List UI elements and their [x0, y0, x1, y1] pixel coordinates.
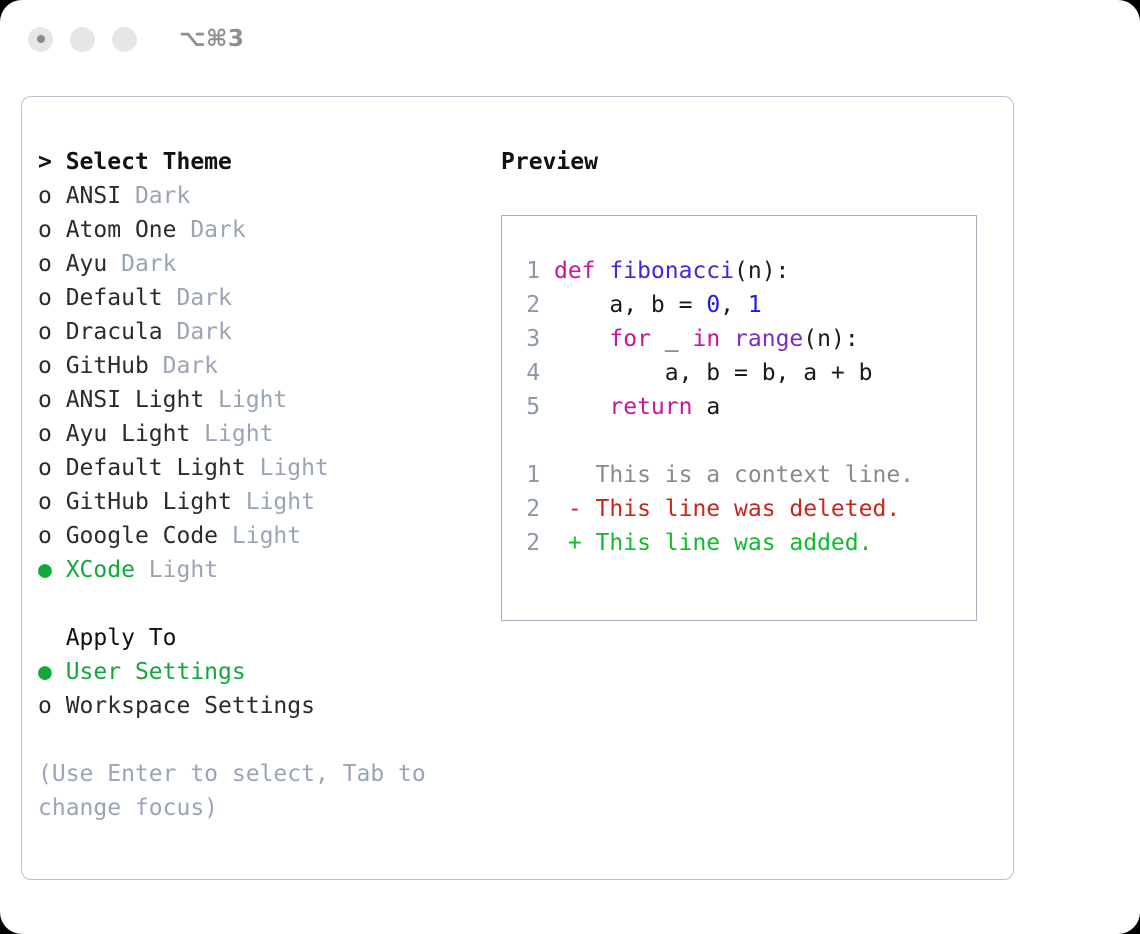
theme-option-label: ANSI: [66, 183, 121, 209]
diff-sign-del: -: [554, 496, 596, 522]
select-theme-heading: > Select Theme: [38, 145, 468, 179]
code-line-number: 1: [518, 254, 540, 288]
radio-selected-icon: ●: [38, 553, 52, 587]
preview-heading: Preview: [501, 145, 991, 179]
preview-column: Preview 1def fibonacci(n):2 a, b = 0, 13…: [501, 145, 991, 621]
theme-selector-column: > Select Theme o ANSI Darko Atom One Dar…: [38, 145, 468, 825]
code-token-txt: _: [651, 326, 693, 352]
code-line-number: 4: [518, 356, 540, 390]
theme-list: o ANSI Darko Atom One Darko Ayu Darko De…: [38, 179, 468, 587]
row-space: [52, 183, 66, 209]
theme-option-suffix: Dark: [163, 285, 232, 311]
row-space: [52, 557, 66, 583]
theme-option-9[interactable]: o GitHub Light Light: [38, 485, 468, 519]
keyboard-hint-text: (Use Enter to select, Tab to change focu…: [38, 757, 438, 825]
select-theme-title: Select Theme: [66, 149, 232, 175]
theme-option-label: Default Light: [66, 455, 246, 481]
row-space: [52, 387, 66, 413]
radio-unselected-icon: o: [38, 417, 52, 451]
theme-option-suffix: Dark: [107, 251, 176, 277]
section-spacer: [38, 587, 468, 621]
radio-selected-icon: ●: [38, 655, 52, 689]
apply-to-prefix: [38, 625, 66, 651]
theme-option-label: Google Code: [66, 523, 218, 549]
select-theme-prefix: >: [38, 149, 66, 175]
radio-unselected-icon: o: [38, 281, 52, 315]
theme-option-3[interactable]: o Default Dark: [38, 281, 468, 315]
preview-gap: [518, 424, 976, 458]
theme-option-label: GitHub Light: [66, 489, 232, 515]
window-controls: [28, 27, 137, 52]
radio-unselected-icon: o: [38, 349, 52, 383]
diff-line-text: This line was added.: [596, 530, 873, 556]
theme-option-label: Ayu Light: [66, 421, 191, 447]
theme-option-suffix: Light: [190, 421, 273, 447]
code-token-txt: (n):: [734, 258, 789, 284]
radio-unselected-icon: o: [38, 519, 52, 553]
diff-line-1: 2 - This line was deleted.: [518, 492, 976, 526]
theme-option-label: Default: [66, 285, 163, 311]
code-line-2: 3 for _ in range(n):: [518, 322, 976, 356]
apply-option-label: Workspace Settings: [66, 693, 315, 719]
theme-option-suffix: Light: [204, 387, 287, 413]
row-space: [52, 285, 66, 311]
radio-unselected-icon: o: [38, 247, 52, 281]
code-token-num: 1: [748, 292, 762, 318]
window-button-3[interactable]: [112, 27, 137, 52]
row-space: [52, 319, 66, 345]
code-token-txt: [720, 326, 734, 352]
window-button-active[interactable]: [28, 27, 53, 52]
keyboard-shortcut-label: ⌥⌘3: [179, 26, 244, 52]
code-line-0: 1def fibonacci(n):: [518, 254, 976, 288]
theme-option-label: Ayu: [66, 251, 108, 277]
row-space: [52, 523, 66, 549]
theme-option-suffix: Dark: [121, 183, 190, 209]
window-button-2[interactable]: [70, 27, 95, 52]
preview-box: 1def fibonacci(n):2 a, b = 0, 13 for _ i…: [501, 215, 977, 621]
row-space: [52, 693, 66, 719]
code-token-txt: [554, 394, 609, 420]
main-panel: > Select Theme o ANSI Darko Atom One Dar…: [21, 96, 1014, 880]
code-line-number: 2: [518, 288, 540, 322]
code-line-1: 2 a, b = 0, 1: [518, 288, 976, 322]
apply-to-title: Apply To: [66, 625, 177, 651]
code-token-txt: [554, 326, 609, 352]
theme-option-label: Dracula: [66, 319, 163, 345]
row-space: [52, 251, 66, 277]
apply-option-label: User Settings: [66, 659, 246, 685]
theme-option-7[interactable]: o Ayu Light Light: [38, 417, 468, 451]
theme-option-suffix: Light: [218, 523, 301, 549]
apply-option-0[interactable]: ● User Settings: [38, 655, 468, 689]
apply-to-list: ● User Settingso Workspace Settings: [38, 655, 468, 723]
diff-line-number: 1: [518, 458, 540, 492]
theme-option-suffix: Light: [246, 455, 329, 481]
theme-option-label: XCode: [66, 557, 135, 583]
theme-option-label: ANSI Light: [66, 387, 204, 413]
code-token-kw: return: [609, 394, 692, 420]
theme-option-10[interactable]: o Google Code Light: [38, 519, 468, 553]
diff-line-0: 1 This is a context line.: [518, 458, 976, 492]
row-space: [52, 659, 66, 685]
radio-unselected-icon: o: [38, 315, 52, 349]
diff-sign-ctx: [554, 462, 596, 488]
code-token-txt: a, b = b, a + b: [554, 360, 873, 386]
diff-preview: 1 This is a context line.2 - This line w…: [518, 458, 976, 560]
code-line-4: 5 return a: [518, 390, 976, 424]
row-space: [52, 421, 66, 447]
theme-option-2[interactable]: o Ayu Dark: [38, 247, 468, 281]
theme-option-5[interactable]: o GitHub Dark: [38, 349, 468, 383]
radio-unselected-icon: o: [38, 485, 52, 519]
radio-unselected-icon: o: [38, 689, 52, 723]
app-window: ⌥⌘3 > Select Theme o ANSI Darko Atom One…: [0, 0, 1140, 934]
code-token-txt: ,: [720, 292, 748, 318]
theme-option-suffix: Light: [232, 489, 315, 515]
code-token-num: 0: [706, 292, 720, 318]
theme-option-6[interactable]: o ANSI Light Light: [38, 383, 468, 417]
code-line-number: 3: [518, 322, 540, 356]
theme-option-suffix: Dark: [176, 217, 245, 243]
diff-line-text: This line was deleted.: [596, 496, 901, 522]
code-preview: 1def fibonacci(n):2 a, b = 0, 13 for _ i…: [518, 254, 976, 424]
code-token-txt: (n):: [803, 326, 858, 352]
diff-line-text: This is a context line.: [596, 462, 915, 488]
row-space: [52, 455, 66, 481]
code-token-kw: def: [554, 258, 609, 284]
window-button-active-indicator: [37, 35, 45, 43]
code-token-kw: in: [692, 326, 720, 352]
diff-sign-add: +: [554, 530, 596, 556]
titlebar: ⌥⌘3: [0, 0, 1140, 78]
code-token-kw: for: [609, 326, 651, 352]
theme-option-0[interactable]: o ANSI Dark: [38, 179, 468, 213]
row-space: [52, 489, 66, 515]
theme-option-1[interactable]: o Atom One Dark: [38, 213, 468, 247]
code-line-3: 4 a, b = b, a + b: [518, 356, 976, 390]
radio-unselected-icon: o: [38, 179, 52, 213]
radio-unselected-icon: o: [38, 383, 52, 417]
theme-option-4[interactable]: o Dracula Dark: [38, 315, 468, 349]
theme-option-suffix: Dark: [149, 353, 218, 379]
apply-to-heading: Apply To: [38, 621, 468, 655]
row-space: [52, 217, 66, 243]
diff-line-2: 2 + This line was added.: [518, 526, 976, 560]
theme-option-label: GitHub: [66, 353, 149, 379]
diff-line-number: 2: [518, 492, 540, 526]
code-token-fn: fibonacci: [609, 258, 734, 284]
radio-unselected-icon: o: [38, 213, 52, 247]
theme-option-suffix: Light: [135, 557, 218, 583]
code-token-txt: a, b =: [554, 292, 706, 318]
code-line-number: 5: [518, 390, 540, 424]
theme-option-label: Atom One: [66, 217, 177, 243]
apply-option-1[interactable]: o Workspace Settings: [38, 689, 468, 723]
theme-option-suffix: Dark: [163, 319, 232, 345]
radio-unselected-icon: o: [38, 451, 52, 485]
code-token-txt: a: [692, 394, 720, 420]
theme-option-8[interactable]: o Default Light Light: [38, 451, 468, 485]
row-space: [52, 353, 66, 379]
code-token-cls: range: [734, 326, 803, 352]
diff-line-number: 2: [518, 526, 540, 560]
theme-option-11[interactable]: ● XCode Light: [38, 553, 468, 587]
